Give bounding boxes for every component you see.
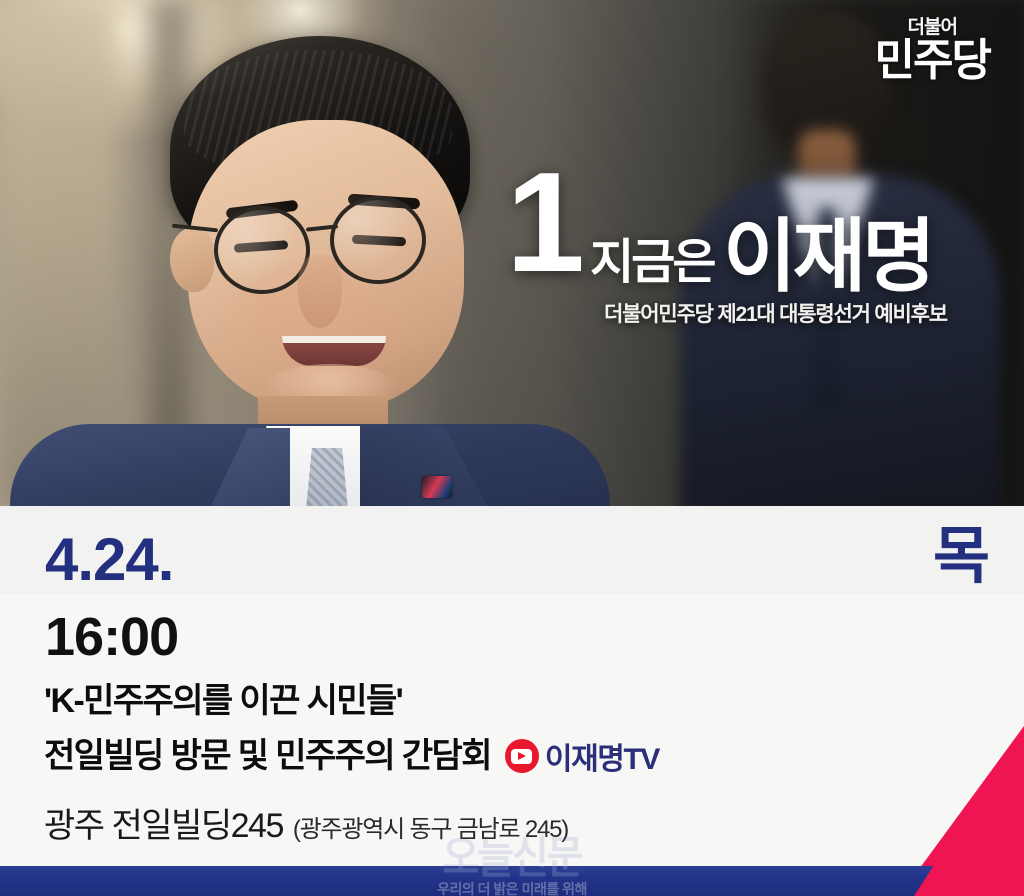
candidate-mouth xyxy=(282,336,386,366)
event-time: 16:00 xyxy=(45,610,178,664)
candidate-role: 더불어민주당 제21대 대통령선거 예비후보 xyxy=(604,298,947,328)
party-logo-main-text: 민주당 xyxy=(875,39,990,83)
event-title-line-2: 전일빌딩 방문 및 민주주의 간담회 xyxy=(44,739,491,773)
youtube-icon-plate xyxy=(511,749,532,764)
candidate-name: 이재명 xyxy=(723,192,932,308)
campaign-schedule-card: 더불어 민주당 1 지금은 이재명 더불어민주당 제21대 대통령선거 예비후보… xyxy=(0,0,1024,896)
watermark: 오늘신문 우리의 더 밝은 미래를 위해 xyxy=(0,866,1024,896)
event-place-detail: (광주광역시 동구 금남로 245) xyxy=(293,809,568,844)
glasses-lens-right xyxy=(330,196,426,284)
event-place: 광주 전일빌딩245 xyxy=(44,798,283,847)
party-logo-top-text: 더불어 xyxy=(875,18,990,37)
event-date: 4.24. xyxy=(45,530,173,590)
candidate-number: 1 xyxy=(506,152,581,294)
accent-wedge-band-part xyxy=(914,866,1024,896)
slogan-block: 1 지금은 이재명 더불어민주당 제21대 대통령선거 예비후보 xyxy=(498,140,1018,330)
watermark-title: 오늘신문 xyxy=(0,866,1024,880)
youtube-channel-badge[interactable]: 이재명TV xyxy=(505,734,659,778)
youtube-icon xyxy=(505,739,539,773)
youtube-channel-name: 이재명TV xyxy=(545,734,659,778)
slogan-prefix: 지금은 xyxy=(590,222,713,292)
event-location-row: 광주 전일빌딩245 (광주광역시 동구 금남로 245) xyxy=(44,798,568,847)
candidate-nose xyxy=(298,254,342,328)
event-title-line-1: 'K-민주주의를 이끈 시민들' xyxy=(44,684,402,718)
candidate-photo: 더불어 민주당 1 지금은 이재명 더불어민주당 제21대 대통령선거 예비후보 xyxy=(0,0,1024,506)
watermark-tagline: 우리의 더 밝은 미래를 위해 xyxy=(0,882,1024,896)
play-triangle-icon xyxy=(518,752,526,760)
schedule-info-panel: 4.24. 목 16:00 'K-민주주의를 이끈 시민들' 전일빌딩 방문 및… xyxy=(0,506,1024,866)
flag-lapel-pin-icon xyxy=(422,476,452,498)
bottom-band: 오늘신문 우리의 더 밝은 미래를 위해 xyxy=(0,866,1024,896)
event-weekday: 목 xyxy=(933,526,988,588)
party-logo: 더불어 민주당 xyxy=(875,18,990,83)
event-title-row: 전일빌딩 방문 및 민주주의 간담회 이재명TV xyxy=(44,734,659,778)
glasses-lens-left xyxy=(214,206,310,294)
